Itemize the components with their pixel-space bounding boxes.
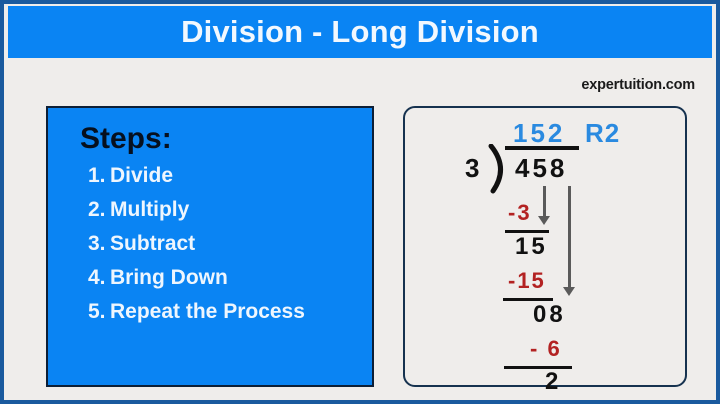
steps-heading: Steps: (80, 122, 372, 156)
step-label: Divide (110, 164, 173, 188)
bring-down-arrow-2-head (563, 287, 575, 296)
subtract-15-value: -15 (508, 268, 546, 294)
step-label: Repeat the Process (110, 300, 305, 324)
step-label: Bring Down (110, 266, 228, 290)
list-item: 4. Bring Down (88, 266, 372, 290)
dividend-value: 458 (515, 153, 567, 184)
page-title: Division - Long Division (181, 14, 539, 50)
steps-panel: Steps: 1. Divide 2. Multiply 3. Subtract… (46, 106, 374, 387)
bring-down-arrow-2 (568, 186, 571, 290)
step-label: Subtract (110, 232, 195, 256)
partial-15-value: 15 (515, 233, 548, 261)
watermark-label: expertuition.com (581, 77, 695, 93)
step-label: Multiply (110, 198, 189, 222)
division-vinculum (505, 146, 579, 150)
long-division-panel: 152 R2 3 458 -3 15 - (403, 106, 687, 387)
step-number: 5. (88, 300, 110, 324)
worksheet-page: Division - Long Division expertuition.co… (0, 0, 720, 404)
subtraction-rule-3 (504, 366, 572, 369)
step-number: 4. (88, 266, 110, 290)
header-banner: Division - Long Division (8, 6, 712, 58)
final-remainder-value: 2 (545, 368, 558, 396)
partial-08-value: 08 (533, 301, 566, 329)
step-number: 3. (88, 232, 110, 256)
list-item: 3. Subtract (88, 232, 372, 256)
divisor-value: 3 (465, 153, 479, 184)
list-item: 2. Multiply (88, 198, 372, 222)
subtract-6-value: - 6 (530, 336, 562, 362)
long-division-diagram: 152 R2 3 458 -3 15 - (405, 108, 689, 389)
bring-down-arrow-1-head (538, 216, 550, 225)
step-number: 1. (88, 164, 110, 188)
subtract-3-value: -3 (508, 200, 532, 226)
list-item: 1. Divide (88, 164, 372, 188)
step-number: 2. (88, 198, 110, 222)
remainder-label: R2 (585, 118, 620, 149)
list-item: 5. Repeat the Process (88, 300, 372, 324)
bring-down-arrow-1 (543, 186, 546, 219)
